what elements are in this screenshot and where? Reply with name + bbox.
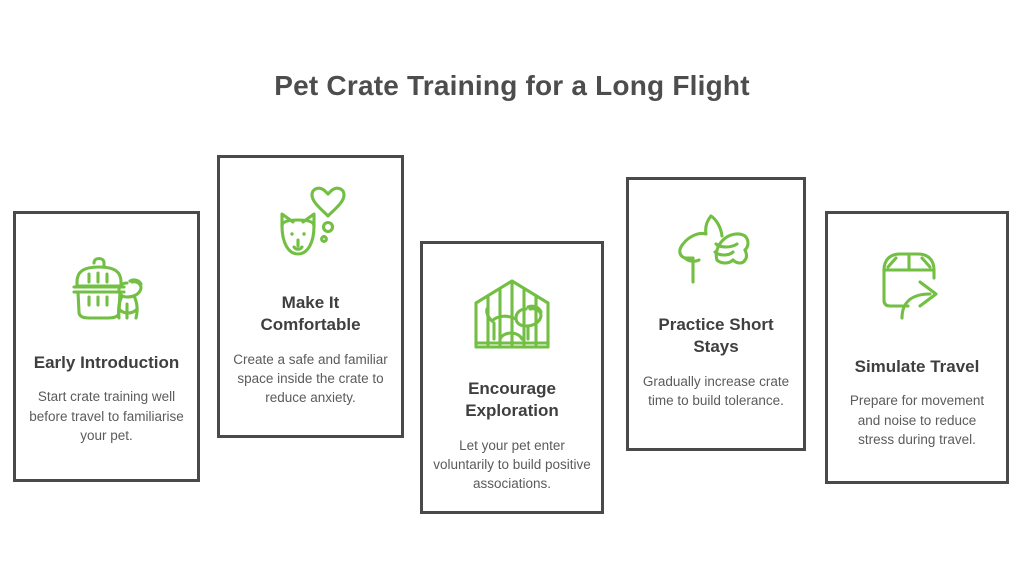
card-heading: Make It Comfortable xyxy=(230,292,391,337)
card-body: Start crate training well before travel … xyxy=(26,387,187,444)
card-body: Let your pet enter voluntarily to build … xyxy=(433,436,591,493)
step-card-simulate-travel[interactable]: Simulate Travel Prepare for movement and… xyxy=(825,211,1009,484)
card-body: Gradually increase crate time to build t… xyxy=(639,372,793,410)
step-card-encourage-exploration[interactable]: Encourage Exploration Let your pet enter… xyxy=(420,241,604,514)
card-heading: Practice Short Stays xyxy=(639,314,793,359)
card-body: Create a safe and familiar space inside … xyxy=(230,350,391,407)
infographic-slide: Pet Crate Training for a Long Flight xyxy=(0,0,1024,576)
card-heading: Simulate Travel xyxy=(855,356,980,378)
step-card-practice-short-stays[interactable]: Practice Short Stays Gradually increase … xyxy=(626,177,806,451)
hand-petting-dog-icon xyxy=(673,208,759,290)
dog-inside-crate-icon xyxy=(469,274,555,356)
card-body: Prepare for movement and noise to reduce… xyxy=(838,391,996,448)
card-heading: Encourage Exploration xyxy=(433,378,591,423)
card-heading: Early Introduction xyxy=(34,352,179,374)
step-card-early-introduction[interactable]: Early Introduction Start crate training … xyxy=(13,211,200,482)
crate-with-arrow-icon xyxy=(874,244,960,326)
page-title: Pet Crate Training for a Long Flight xyxy=(0,70,1024,102)
step-card-make-it-comfortable[interactable]: Make It Comfortable Create a safe and fa… xyxy=(217,155,404,438)
cat-face-with-heart-icon xyxy=(268,186,354,268)
pet-carrier-with-dog-icon xyxy=(64,248,150,330)
